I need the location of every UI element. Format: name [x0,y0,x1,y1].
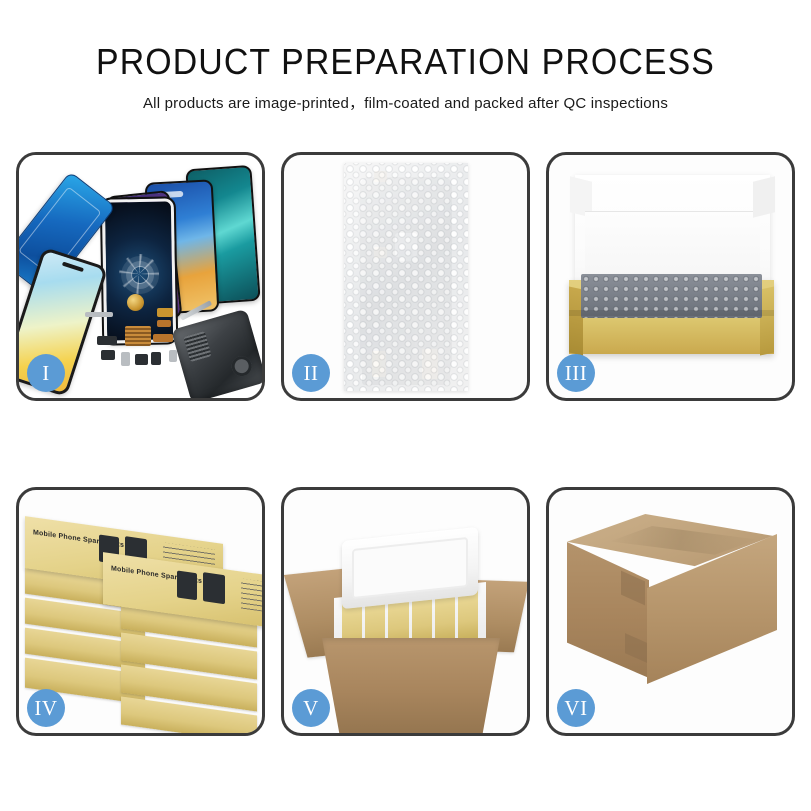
box-artwork-phone-4 [203,572,225,604]
part-module [151,352,161,365]
step-badge-4: IV [27,689,65,727]
box-tray-kraft [569,280,774,354]
page-title: PRODUCT PREPARATION PROCESS [24,44,786,80]
box-artwork-phone-3 [177,570,197,600]
process-step-2: II [281,152,530,401]
open-inner-box [569,175,774,354]
process-step-6: VI [546,487,795,736]
part-flex-cable [153,334,173,342]
part-bracket [97,336,117,345]
bubble-wrapped-package [344,163,468,391]
step-badge-3: III [557,354,595,392]
chip-grid-part [125,326,151,346]
stacked-boxes: Mobile Phone Spare Parts Mobile Phone Sp… [25,514,256,723]
part-flex-gold [157,308,173,317]
process-steps-grid: I II [16,152,795,736]
tweezers-icon [180,300,212,320]
bubble-wrap-texture [344,163,468,391]
part-sim-tray [121,352,130,366]
speaker-part-icon [127,294,144,311]
sealed-shipping-carton [563,514,778,709]
process-step-4: Mobile Phone Spare Parts Mobile Phone Sp… [16,487,265,736]
part-camera [135,354,148,365]
part-connector [157,320,171,327]
tray-end-right [760,287,774,356]
foam-lid-open [342,527,478,609]
process-step-3: III [546,152,795,401]
box-spec-text-block-front [241,578,262,615]
part-screw-set [169,350,177,362]
step-badge-6: VI [557,689,595,727]
page-header: PRODUCT PREPARATION PROCESS All products… [0,0,811,111]
small-parts-cluster [91,304,211,384]
process-step-5: V [281,487,530,736]
inner-box [458,589,478,643]
page-subtitle: All products are image-printed，film-coat… [0,96,811,111]
open-shipping-carton [298,512,517,711]
tray-front-lip [569,310,774,316]
part-button [101,350,115,360]
step-badge-1: I [27,354,65,392]
step-badge-5: V [292,689,330,727]
inner-box [435,591,455,645]
part-strip [85,312,113,317]
carton-front-panel [322,638,500,733]
process-step-1: I [16,152,265,401]
step-badge-2: II [292,354,330,392]
crack-pattern-icon [119,253,160,294]
